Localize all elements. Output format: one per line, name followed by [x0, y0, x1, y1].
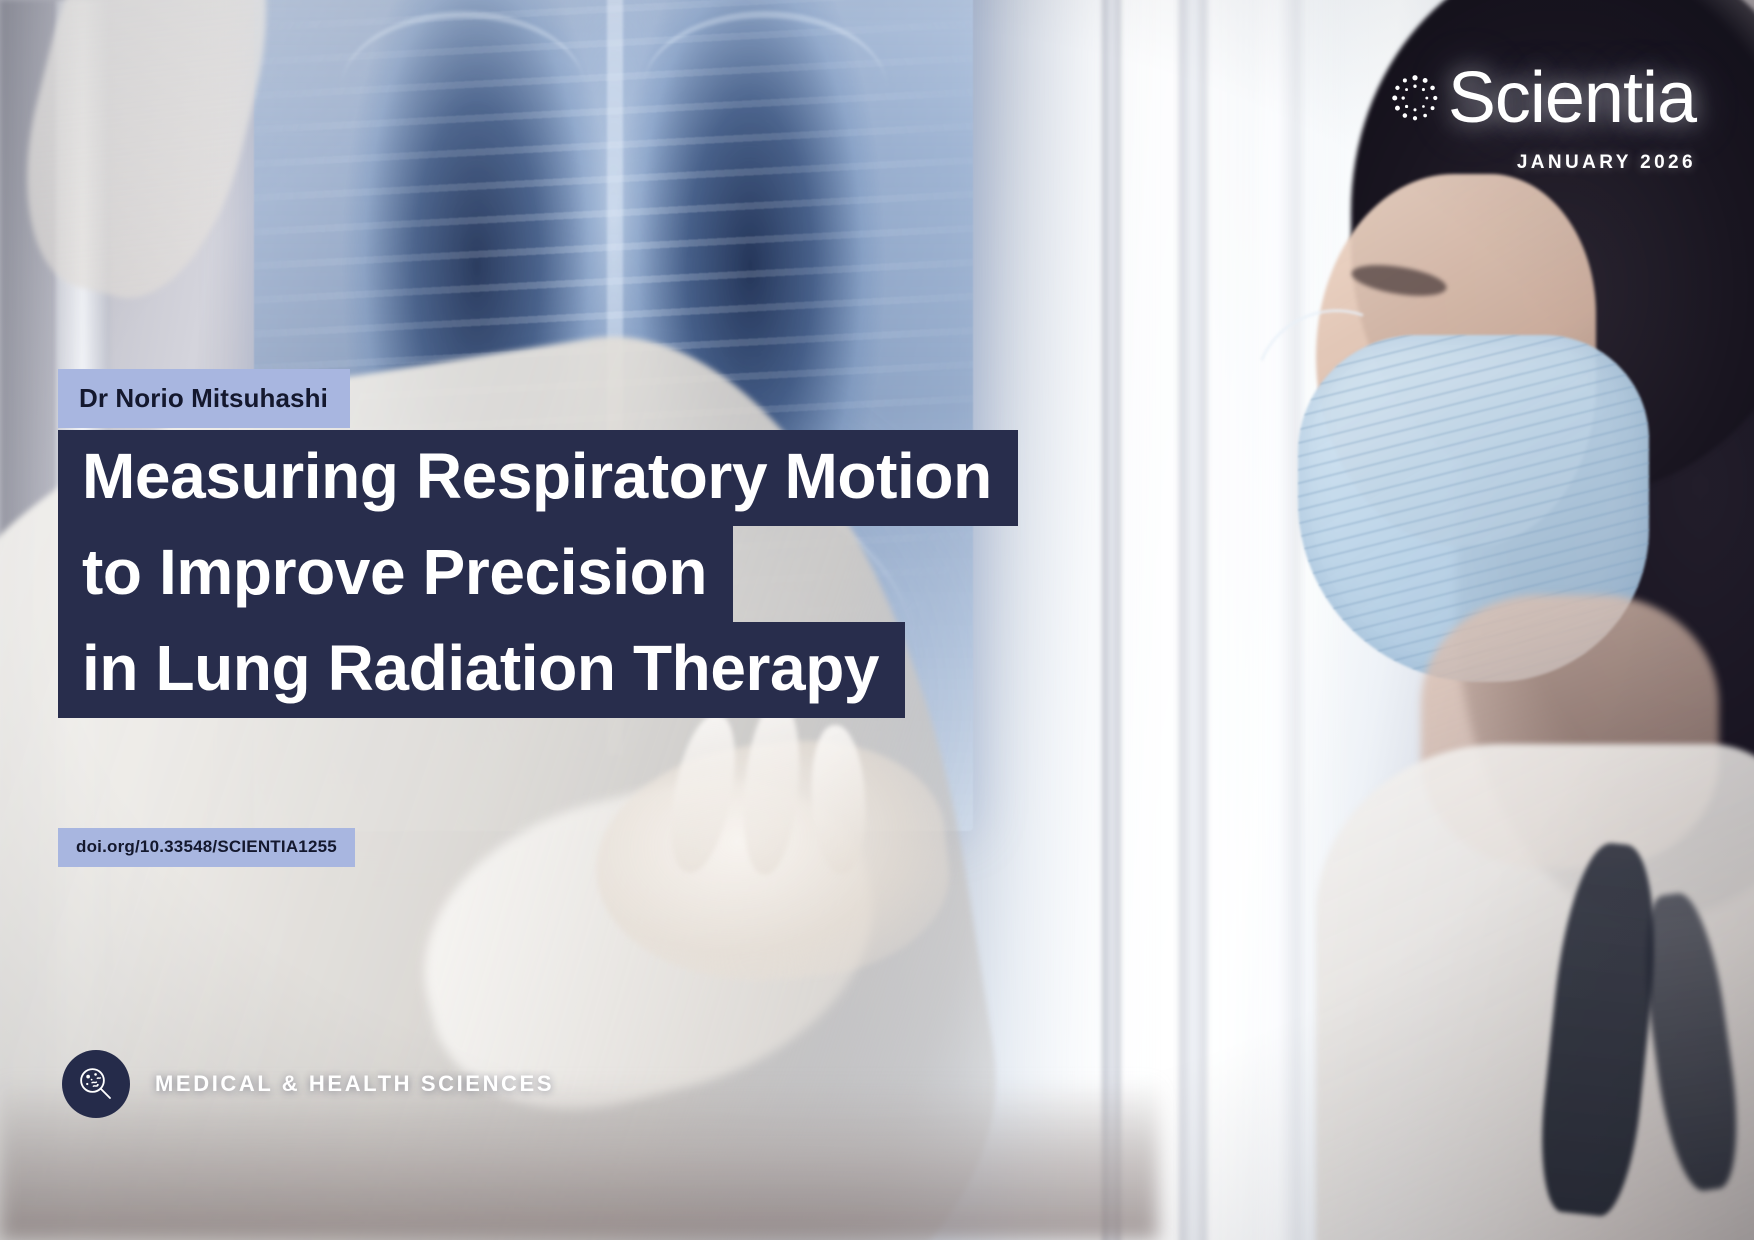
issue-date: JANUARY 2026 [1388, 152, 1696, 174]
title-line-2: to Improve Precision [58, 526, 733, 622]
masthead: Scientia JANUARY 2026 [1388, 62, 1696, 174]
category-label: MEDICAL & HEALTH SCIENCES [155, 1071, 554, 1097]
brand-logo[interactable]: Scientia [1388, 62, 1696, 134]
scientia-dotted-circle-icon [1388, 71, 1442, 125]
title-line-1: Measuring Respiratory Motion [58, 430, 1018, 526]
article-title: Measuring Respiratory Motion to Improve … [58, 430, 1018, 718]
brand-wordmark: Scientia [1448, 62, 1696, 134]
window-frame-bar-2 [1179, 0, 1207, 1240]
window-frame-bar-3 [1256, 0, 1302, 1240]
magnifying-glass-microbes-icon [75, 1063, 117, 1105]
window-frame-bar-1 [1102, 0, 1121, 1240]
title-line-3: in Lung Radiation Therapy [58, 622, 905, 718]
category-badge [62, 1050, 130, 1118]
author-byline: Dr Norio Mitsuhashi [58, 369, 350, 428]
magazine-cover: Scientia JANUARY 2026 Dr Norio Mitsuhash… [0, 0, 1754, 1240]
doi-link[interactable]: doi.org/10.33548/SCIENTIA1255 [58, 828, 355, 867]
category-tag[interactable]: MEDICAL & HEALTH SCIENCES [62, 1050, 554, 1118]
